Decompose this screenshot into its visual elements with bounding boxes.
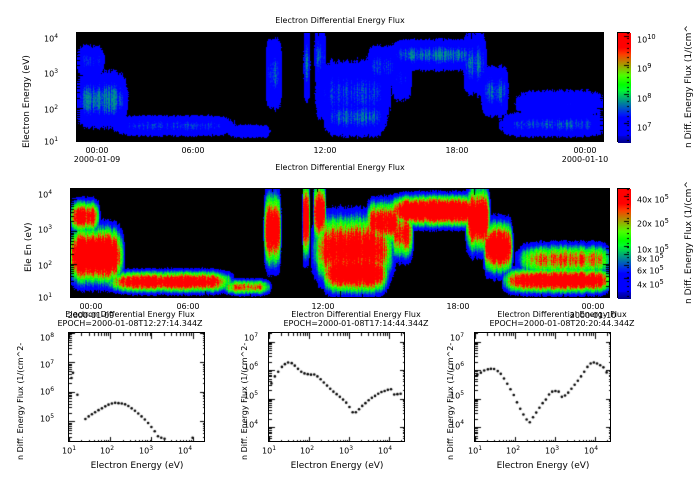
panel5-subtitle: EPOCH=2000-01-08T20:20:44.344Z [457, 319, 667, 328]
panel3-ytick-1e5: 105 [40, 413, 54, 424]
panel2-y-axis-label: Ele En (eV) [24, 222, 34, 272]
panel4-xtick-100: 102 [300, 445, 314, 456]
panel5-title: Electron Differential Energy Flux [462, 310, 662, 319]
panel1-xtick-4: 00:002000-01-10 [540, 146, 630, 164]
panel3-ytick-1e7: 107 [40, 359, 54, 370]
panel3-xtick-1000: 103 [139, 445, 153, 456]
panel3-x-axis-label: Electron Energy (eV) [62, 461, 212, 471]
panel1-ytick-10000: 104 [44, 33, 58, 44]
panel1-cbtick-2: 108 [637, 92, 651, 104]
panel1-xtick-0: 00:002000-01-09 [52, 146, 142, 164]
panel5-ytick-1e6: 106 [450, 361, 464, 372]
panel2-colorbar [617, 188, 630, 298]
panel2-ytick-100: 102 [38, 260, 52, 271]
panel1-cbtick-0: 1010 [637, 33, 656, 45]
panel4-ytick-1e6: 106 [244, 361, 258, 372]
panel5-plot-area[interactable] [474, 332, 611, 442]
panel3-y-axis-label: n Diff. Energy Flux (1/(cm^2- [16, 343, 25, 460]
panel2-ytick-10000: 104 [38, 189, 52, 200]
panel3-ytick-1e8: 108 [40, 332, 54, 343]
panel5-xtick-10: 101 [468, 445, 482, 456]
panel2-cbtick-5: 4x 105 [637, 278, 664, 290]
panel2-cbtick-3: 8x 105 [637, 252, 664, 264]
panel4-plot-area[interactable] [268, 332, 405, 442]
panel1-y-axis-label: Electron Energy (eV) [22, 55, 32, 148]
panel4-ytick-1e7: 107 [244, 332, 258, 343]
panel1-cbtick-1: 109 [637, 62, 651, 74]
panel5-x-axis-label: Electron Energy (eV) [468, 461, 618, 471]
panel3-xtick-100: 102 [100, 445, 114, 456]
panel1-xtick-2: 12:00 [280, 146, 370, 155]
panel1-colorbar-label: n Diff. Energy Flux (1/(cm^ [684, 25, 694, 148]
panel3-ytick-1e6: 106 [40, 386, 54, 397]
panel2-plot-area[interactable] [70, 188, 610, 298]
panel2-cbtick-0: 40x 105 [637, 193, 669, 205]
panel1-ytick-1000: 103 [44, 68, 58, 79]
panel4-xtick-10000: 104 [378, 445, 392, 456]
panel1-colorbar [617, 32, 630, 142]
panel5-ytick-1e4: 104 [450, 419, 464, 430]
panel3-xtick-10000: 104 [178, 445, 192, 456]
panel5-xtick-10000: 104 [584, 445, 598, 456]
panel2-cbtick-1: 20x 105 [637, 217, 669, 229]
panel5-ytick-1e7: 107 [450, 332, 464, 343]
panel1-plot-area[interactable] [76, 32, 604, 142]
panel1-title: Electron Differential Energy Flux [180, 16, 500, 25]
panel5-ytick-1e5: 105 [450, 390, 464, 401]
panel4-ytick-1e5: 105 [244, 390, 258, 401]
panel4-title: Electron Differential Energy Flux [256, 310, 456, 319]
panel4-xtick-10: 101 [262, 445, 276, 456]
panel1-ytick-100: 102 [44, 104, 58, 115]
panel1-xtick-3: 18:00 [412, 146, 502, 155]
panel1-cbtick-3: 107 [637, 121, 651, 133]
panel5-xtick-1000: 103 [545, 445, 559, 456]
panel5-xtick-100: 102 [506, 445, 520, 456]
panel2-title: Electron Differential Energy Flux [180, 163, 500, 172]
panel2-cbtick-4: 6x 105 [637, 264, 664, 276]
panel4-ytick-1e4: 104 [244, 419, 258, 430]
panel4-xtick-1000: 103 [339, 445, 353, 456]
panel2-colorbar-label: n Diff. Energy Flux (1/(cm^ [684, 181, 694, 304]
panel3-subtitle: EPOCH=2000-01-08T12:27:14.344Z [25, 319, 235, 328]
panel2-ytick-1000: 103 [38, 224, 52, 235]
panel3-xtick-10: 101 [62, 445, 76, 456]
panel4-subtitle: EPOCH=2000-01-08T17:14:44.344Z [251, 319, 461, 328]
panel3-title: Electron Differential Energy Flux [30, 310, 230, 319]
panel3-plot-area[interactable] [68, 332, 205, 442]
panel4-x-axis-label: Electron Energy (eV) [262, 461, 412, 471]
panel1-xtick-1: 06:00 [148, 146, 238, 155]
